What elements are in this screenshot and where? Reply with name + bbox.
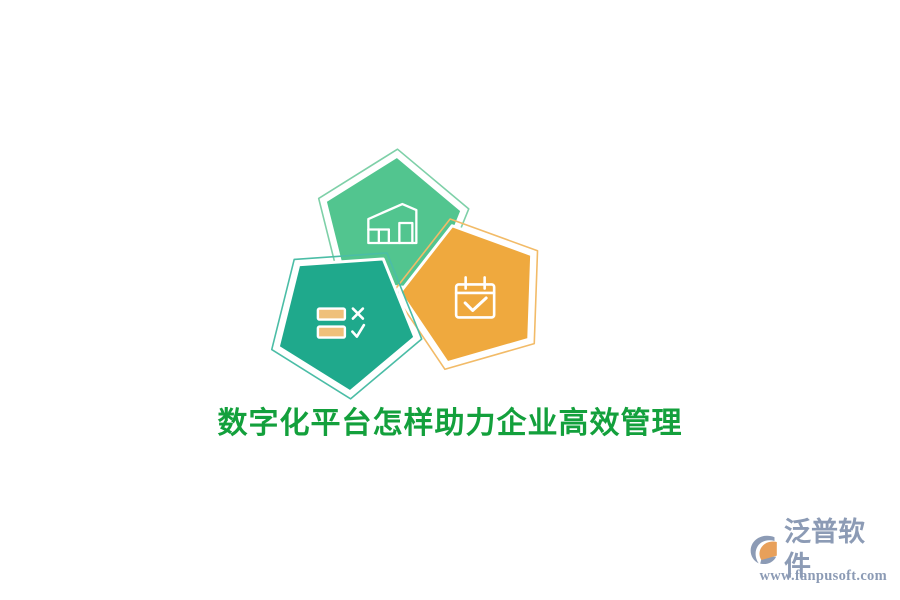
brand-url: www.fanpusoft.com [748, 568, 888, 585]
checklist-bar-2 [318, 327, 345, 338]
brand-row: 泛普软件 [748, 530, 888, 570]
pentagon-cluster-graphic [265, 145, 555, 400]
brand-watermark: 泛普软件 www.fanpusoft.com [748, 530, 888, 592]
fanpu-logo-icon [748, 533, 782, 567]
page-title: 数字化平台怎样助力企业高效管理 [0, 402, 900, 446]
checklist-bar-1 [318, 309, 345, 320]
page-canvas: 数字化平台怎样助力企业高效管理 泛普软件 www.fanpusoft.com [0, 0, 900, 600]
